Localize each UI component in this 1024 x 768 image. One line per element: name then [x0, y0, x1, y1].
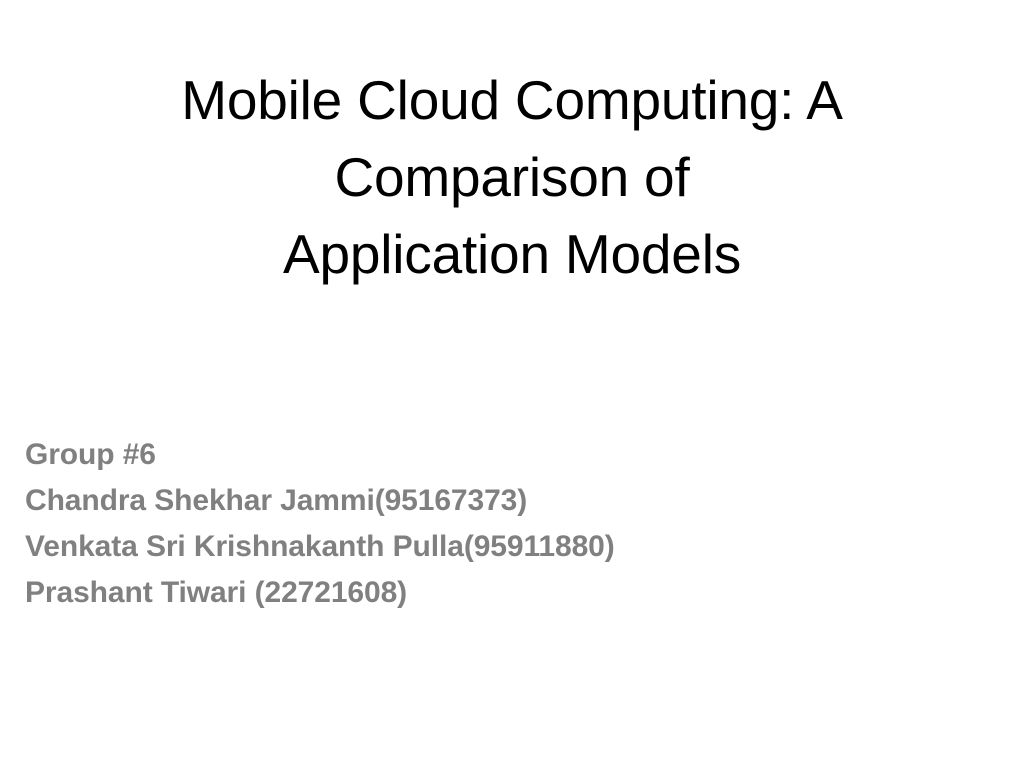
title-line-1: Mobile Cloud Computing: A: [60, 62, 964, 139]
slide-title: Mobile Cloud Computing: A Comparison of …: [60, 62, 964, 293]
slide-subtitle-authors: Group #6 Chandra Shekhar Jammi(95167373)…: [25, 432, 965, 616]
author-line-1: Chandra Shekhar Jammi(95167373): [25, 478, 965, 524]
author-line-2: Venkata Sri Krishnakanth Pulla(95911880): [25, 524, 965, 570]
title-line-3: Application Models: [60, 216, 964, 293]
author-line-3: Prashant Tiwari (22721608): [25, 570, 965, 616]
group-label: Group #6: [25, 432, 965, 478]
presentation-slide: Mobile Cloud Computing: A Comparison of …: [0, 0, 1024, 768]
title-line-2: Comparison of: [60, 139, 964, 216]
